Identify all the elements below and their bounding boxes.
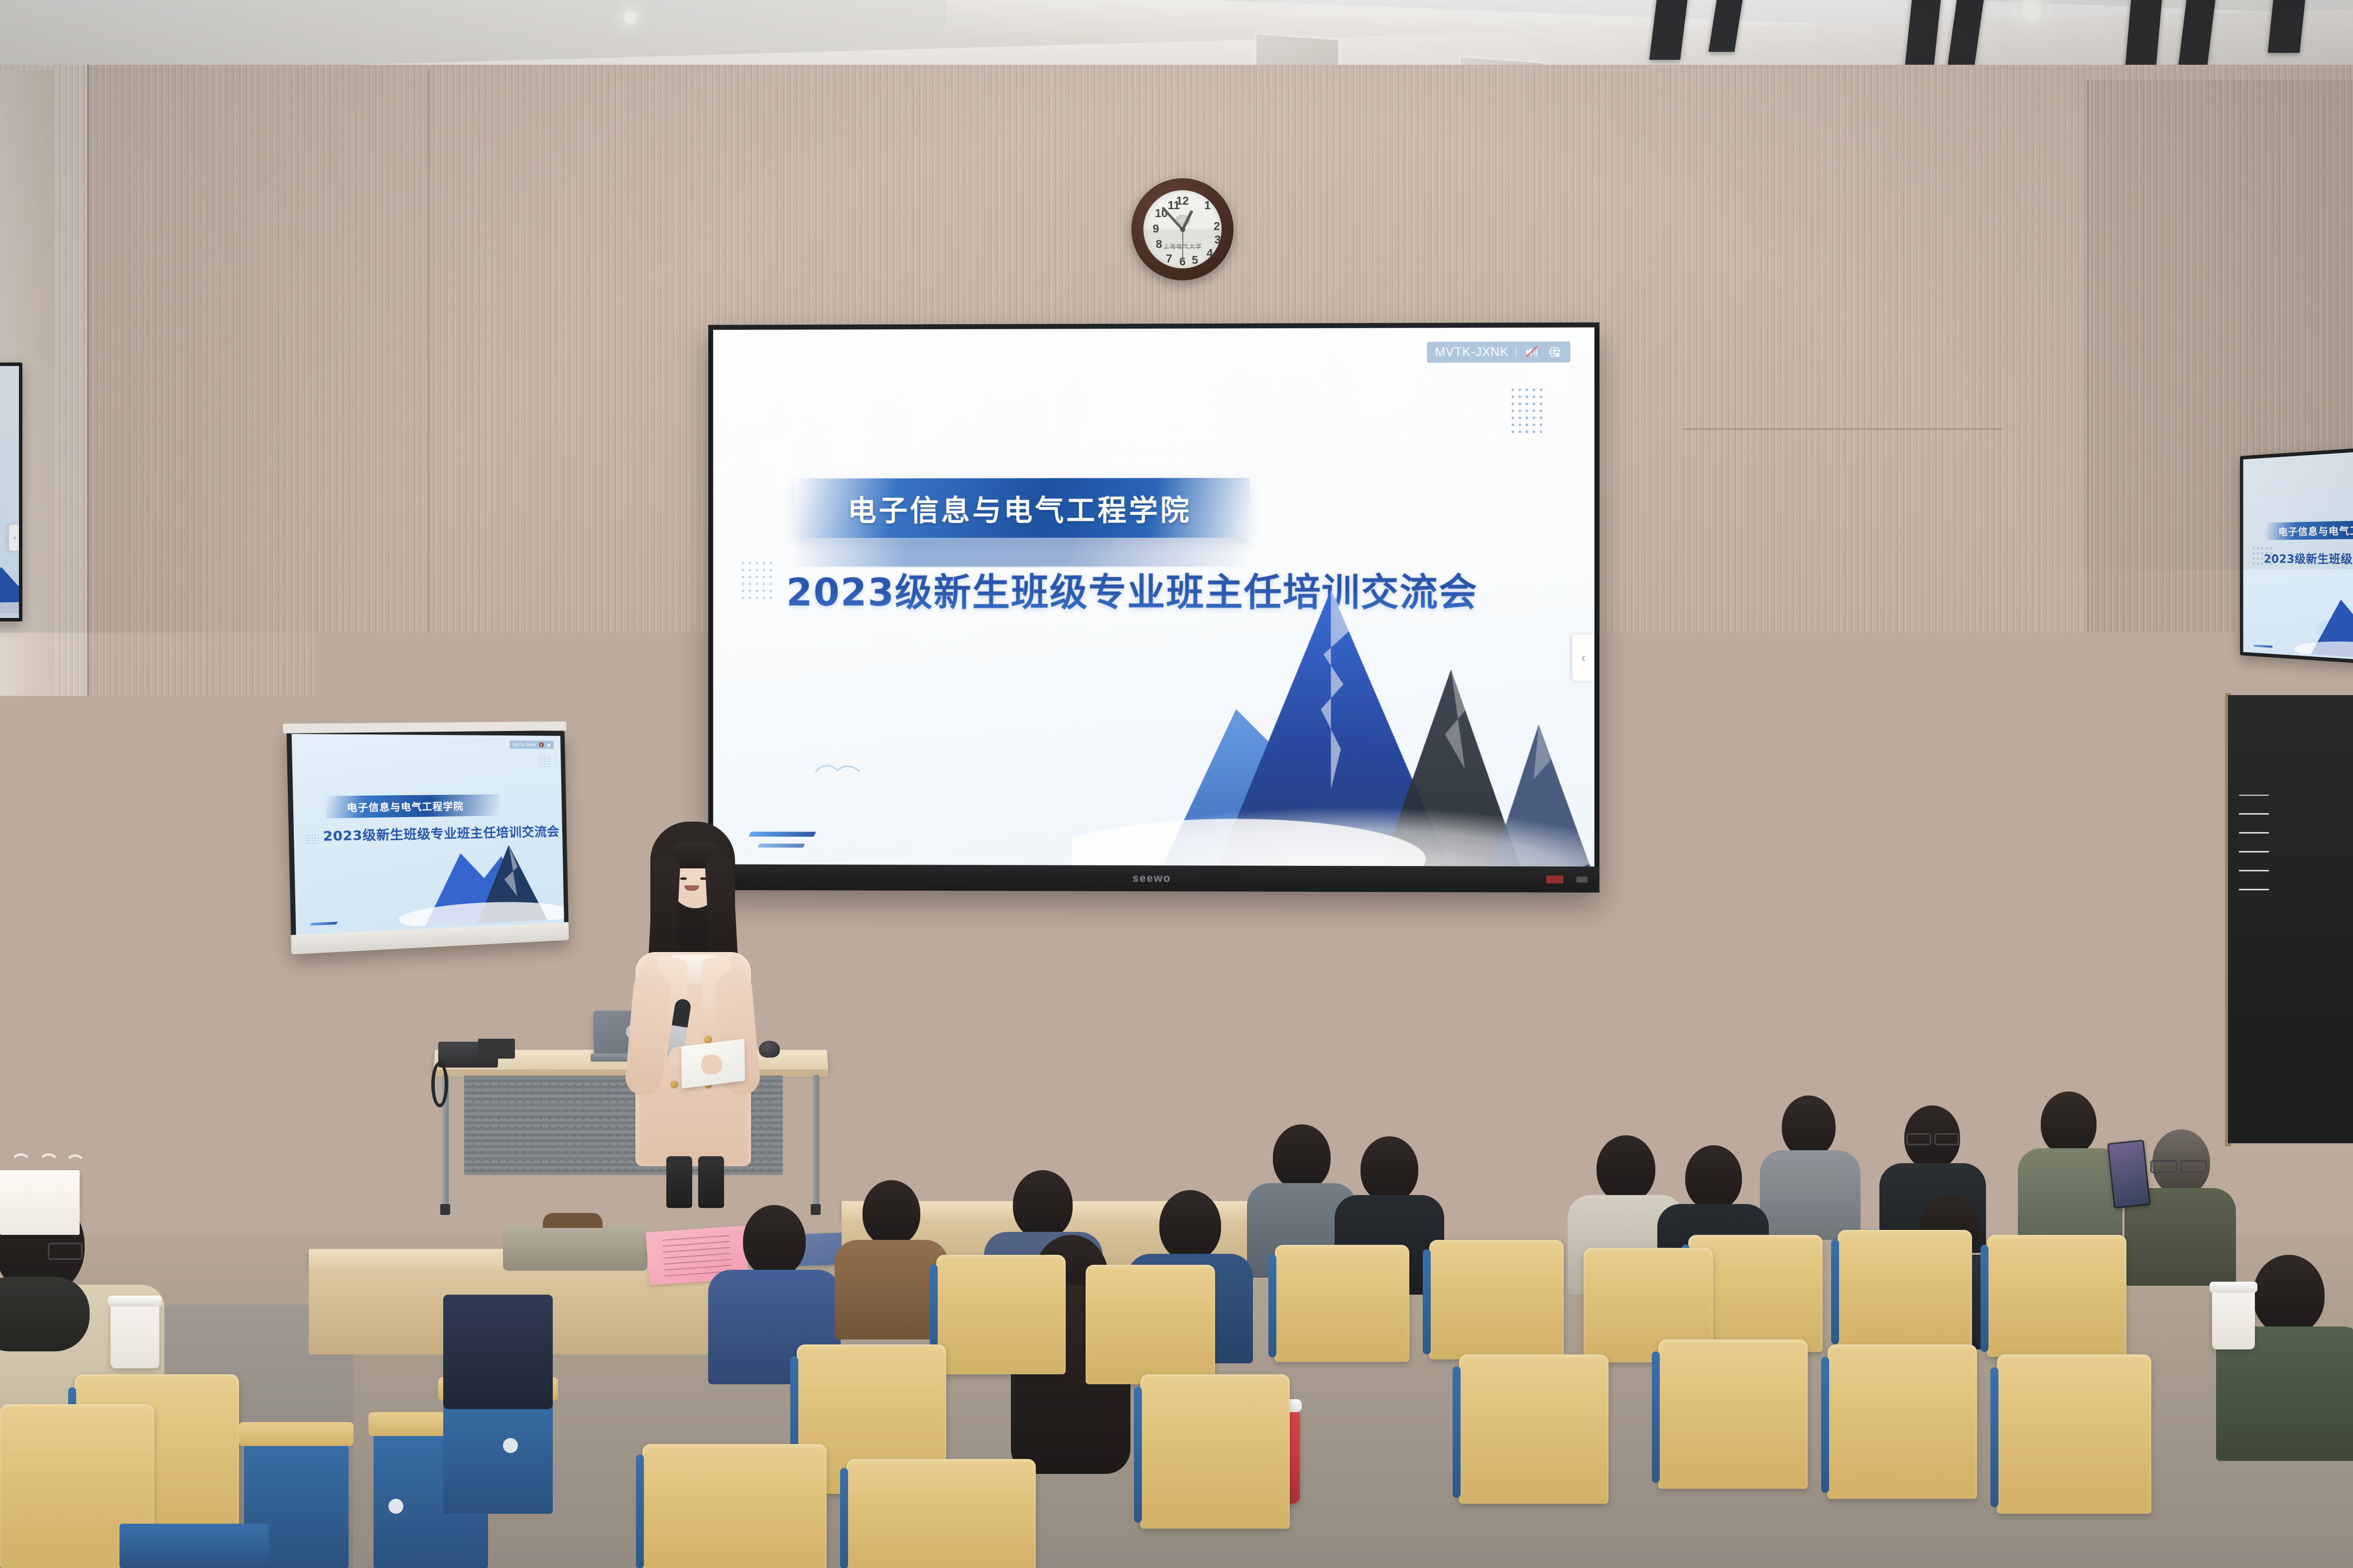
person-torso xyxy=(2018,1148,2122,1243)
mobile-panel-screen[interactable]: MVTK-JXNK 🔇 ◉ 电子信息与电气工程学院 2023级新生班级专业班主任… xyxy=(292,734,564,935)
seat-side-panel xyxy=(1134,1387,1142,1523)
seat-side-panel xyxy=(1268,1254,1276,1357)
seat-backrest xyxy=(936,1255,1066,1374)
slide-side-tab[interactable]: ‹ xyxy=(9,525,19,551)
handbag xyxy=(503,1226,647,1271)
seewo-brand-logo: seewo xyxy=(1132,872,1171,885)
seat-side-panel xyxy=(2170,1473,2178,1568)
presenter-boot-right xyxy=(698,1156,724,1208)
clock-second-hand xyxy=(1182,230,1183,261)
eyeglasses-icon xyxy=(1934,1133,1959,1145)
seat-side-panel xyxy=(1517,1468,1525,1568)
wall-seam xyxy=(2087,80,2089,1135)
seat-side-panel xyxy=(1423,1249,1431,1354)
bag-handle xyxy=(38,1153,60,1178)
mobile-panel-status-badge[interactable]: MVTK-JXNK 🔇 ◉ xyxy=(510,740,554,749)
badge-device-name: MVTK-JXNK xyxy=(1435,345,1508,360)
phone-screen xyxy=(2109,1141,2149,1207)
person-head xyxy=(743,1205,806,1277)
seat-armrest[interactable] xyxy=(239,1422,354,1446)
mobile-panel-banner: 电子信息与电气工程学院 xyxy=(326,794,500,818)
seat-cushion[interactable] xyxy=(120,1524,269,1568)
slide-mountain-artwork xyxy=(397,820,564,927)
seat-backrest xyxy=(1086,1265,1215,1384)
ceiling-spotlight xyxy=(622,10,637,25)
right-monitor-banner: 电子信息与电气工程学院 xyxy=(2266,519,2353,540)
clock-numeral: 11 xyxy=(1167,200,1181,211)
wall-light-switch[interactable] xyxy=(35,896,53,909)
auditorium-seat[interactable] xyxy=(1275,1245,1409,1362)
slide-banner-text: 电子信息与电气工程学院 xyxy=(848,487,1192,529)
seat-backrest xyxy=(1140,1374,1290,1529)
right-monitor-headline: 2023级新生班级专业班主任培训交流会 xyxy=(2264,549,2353,568)
auditorium-seat[interactable] xyxy=(847,1459,1036,1568)
paper-shopping-bag xyxy=(0,1170,80,1235)
eyeglasses-icon xyxy=(48,1243,83,1260)
eyeglasses-icon xyxy=(2150,1160,2177,1173)
left-wall-monitor: ‹ xyxy=(0,362,22,621)
slide-dot-grid-top-right xyxy=(1511,388,1542,433)
door-glass-panel xyxy=(2239,795,2269,890)
slide-mountain-artwork xyxy=(2294,576,2353,661)
coffee-cup-lid xyxy=(2210,1282,2257,1293)
right-monitor-banner-text: 电子信息与电气工程学院 xyxy=(2278,522,2353,538)
audience-member xyxy=(2022,1091,2116,1231)
podium-desk-leg xyxy=(813,1075,819,1205)
status-badge[interactable]: MVTK-JXNK i xyxy=(1427,342,1570,363)
auditorium-seat[interactable] xyxy=(1429,1240,1564,1359)
coiled-cable xyxy=(431,1062,448,1107)
seat-side-panel xyxy=(1831,1239,1839,1344)
slide-dot-grid-top-right xyxy=(539,756,550,767)
slide-dot-grid xyxy=(2252,547,2271,565)
badge-separator xyxy=(1515,347,1516,358)
seat-side-panel xyxy=(1298,1482,1306,1568)
globe-icon: ◉ xyxy=(547,742,551,747)
person-head xyxy=(1597,1135,1655,1202)
slide-dot-grid-left xyxy=(306,835,319,844)
seat-side-panel xyxy=(840,1468,848,1568)
person-torso xyxy=(1459,1146,1554,1231)
coffee-cup-lid xyxy=(108,1296,162,1307)
left-wall-monitor-screen: ‹ xyxy=(0,366,19,618)
eyeglasses-icon xyxy=(1906,1133,1931,1145)
auditorium-seat[interactable] xyxy=(1743,1474,1932,1568)
presenter xyxy=(628,822,758,1200)
display-power-button[interactable] xyxy=(1576,876,1587,882)
eyeglasses-icon xyxy=(2180,1160,2207,1173)
wall-seam xyxy=(1683,428,2002,430)
seat-number-plate xyxy=(503,1438,518,1453)
slide-accent-bar-secondary xyxy=(757,844,805,847)
person-head xyxy=(1782,1095,1836,1157)
clock-numeral: 4 xyxy=(1203,247,1217,259)
slide-accent-bar xyxy=(310,922,338,926)
clock-face: 上海电气大学 12 1 2 3 4 5 6 7 8 9 10 11 xyxy=(1143,190,1222,268)
display-chin: seewo xyxy=(708,864,1600,893)
smartphone-recording[interactable] xyxy=(2107,1139,2150,1208)
auditorium-seat[interactable] xyxy=(2176,1464,2353,1568)
wall-light-switch[interactable] xyxy=(2203,891,2221,904)
bag-handle xyxy=(65,1154,86,1178)
person-head xyxy=(1361,1136,1418,1202)
seat-backrest xyxy=(1838,1230,1972,1349)
seat-backrest xyxy=(1524,1459,1713,1568)
clock-numeral: 7 xyxy=(1162,253,1176,264)
speaker-muted-icon: 🔇 xyxy=(539,742,545,747)
seat-backrest xyxy=(1429,1240,1564,1359)
seat-number-plate xyxy=(388,1499,403,1514)
clock-numeral: 8 xyxy=(1152,239,1166,250)
seat-side-panel xyxy=(1961,1491,1969,1568)
clock-center-pin xyxy=(1180,227,1185,232)
side-doorway[interactable] xyxy=(2228,695,2353,1143)
audience-member xyxy=(1459,1090,1554,1225)
seat-backrest xyxy=(1987,1235,2126,1357)
auditorium-seat[interactable] xyxy=(1524,1459,1713,1568)
seat-backrest xyxy=(1743,1474,1932,1568)
clock-numeral: 1 xyxy=(1201,200,1215,211)
person-head xyxy=(1159,1190,1221,1261)
auditorium-seat[interactable] xyxy=(642,1444,827,1568)
seat-backrest xyxy=(1275,1245,1409,1362)
display-status-led xyxy=(1546,875,1563,883)
person-torso xyxy=(1760,1150,1860,1240)
speaker-muted-icon[interactable] xyxy=(1523,345,1540,360)
presenter-eye xyxy=(680,877,687,880)
auditorium-seat[interactable] xyxy=(1838,1230,1972,1349)
seat-backrest xyxy=(1967,1484,2156,1568)
slide-mountain-artwork xyxy=(0,548,19,613)
seat-backrest xyxy=(642,1444,827,1568)
clock-numeral: 2 xyxy=(1210,221,1224,232)
podium-desk-foot xyxy=(440,1204,450,1215)
slide-accent-bar xyxy=(2253,645,2273,648)
audience-member xyxy=(1763,1095,1858,1230)
wall-seam xyxy=(1683,707,2111,709)
wall-clock: 上海电气大学 12 1 2 3 4 5 6 7 8 9 10 11 xyxy=(1131,178,1234,280)
seat-side-panel xyxy=(1736,1482,1744,1568)
person-head xyxy=(2253,1255,2325,1334)
auditorium-seat[interactable] xyxy=(936,1255,1066,1374)
clock-numeral: 5 xyxy=(1188,254,1202,266)
student-backpack xyxy=(443,1295,553,1409)
slide-mountain-artwork xyxy=(1072,560,1592,867)
person-head xyxy=(1273,1124,1331,1190)
main-seewo-display[interactable]: MVTK-JXNK i xyxy=(708,322,1600,892)
seat-backrest xyxy=(2176,1464,2353,1568)
person-head xyxy=(2041,1091,2097,1155)
wall-seam xyxy=(87,65,89,1135)
coffee-cup xyxy=(111,1304,159,1368)
acoustic-baffle xyxy=(2268,0,2306,53)
person-head xyxy=(1013,1170,1073,1239)
wall-power-socket[interactable] xyxy=(1700,936,1720,951)
clock-numeral: 3 xyxy=(1211,234,1225,245)
mobile-seewo-panel[interactable]: MVTK-JXNK 🔇 ◉ 电子信息与电气工程学院 2023级新生班级专业班主任… xyxy=(286,728,569,955)
main-display-screen[interactable]: MVTK-JXNK i xyxy=(713,328,1595,867)
av-receiver-box[interactable] xyxy=(478,1039,515,1059)
handbag-strap xyxy=(543,1213,603,1228)
clock-numeral: 9 xyxy=(1149,223,1163,235)
auditorium-seat[interactable] xyxy=(1967,1484,2156,1568)
person-head xyxy=(1478,1090,1533,1153)
seat-backrest xyxy=(847,1459,1036,1568)
slide-bird-artwork xyxy=(812,756,871,781)
seat-side-panel xyxy=(636,1454,644,1568)
auditorium-seat[interactable] xyxy=(1305,1474,1494,1568)
mobile-panel-banner-text: 电子信息与电气工程学院 xyxy=(347,799,464,814)
slide-banner: 电子信息与电气工程学院 xyxy=(795,478,1249,538)
seat-side-panel xyxy=(1821,1357,1829,1493)
person-head xyxy=(863,1180,920,1246)
bag-handle xyxy=(10,1153,32,1178)
globe-icon[interactable]: i xyxy=(1547,345,1562,360)
auditorium-seat[interactable] xyxy=(1086,1265,1215,1384)
presenter-hand-right xyxy=(701,1055,722,1075)
seat-backrest xyxy=(1305,1474,1494,1568)
desk-microphone[interactable] xyxy=(759,1041,780,1058)
slide-accent-bar xyxy=(748,832,816,837)
auditorium-seat[interactable] xyxy=(1140,1374,1290,1529)
mobile-badge-device-name: MVTK-JXNK xyxy=(513,742,536,747)
slide-side-tab[interactable]: ‹ xyxy=(1572,635,1594,681)
coffee-cup xyxy=(2212,1290,2255,1349)
seat-side-panel xyxy=(1981,1245,1988,1352)
right-wall-monitor-screen: 电子信息与电气工程学院 2023级新生班级专业班主任培训交流会 xyxy=(2243,450,2353,662)
slide-dot-grid-left xyxy=(742,562,772,599)
right-wall-monitor: 电子信息与电气工程学院 2023级新生班级专业班主任培训交流会 xyxy=(2240,446,2353,665)
presenter-boot-left xyxy=(666,1156,692,1208)
coat-button xyxy=(670,1081,678,1088)
wall-seam xyxy=(946,936,1574,938)
audience-member xyxy=(842,1180,941,1329)
lecture-hall-scene: 上海电气大学 12 1 2 3 4 5 6 7 8 9 10 11 xyxy=(0,0,2353,1568)
auditorium-seat[interactable] xyxy=(1987,1235,2126,1357)
person-hood xyxy=(0,1277,90,1351)
person-head xyxy=(1685,1145,1742,1210)
